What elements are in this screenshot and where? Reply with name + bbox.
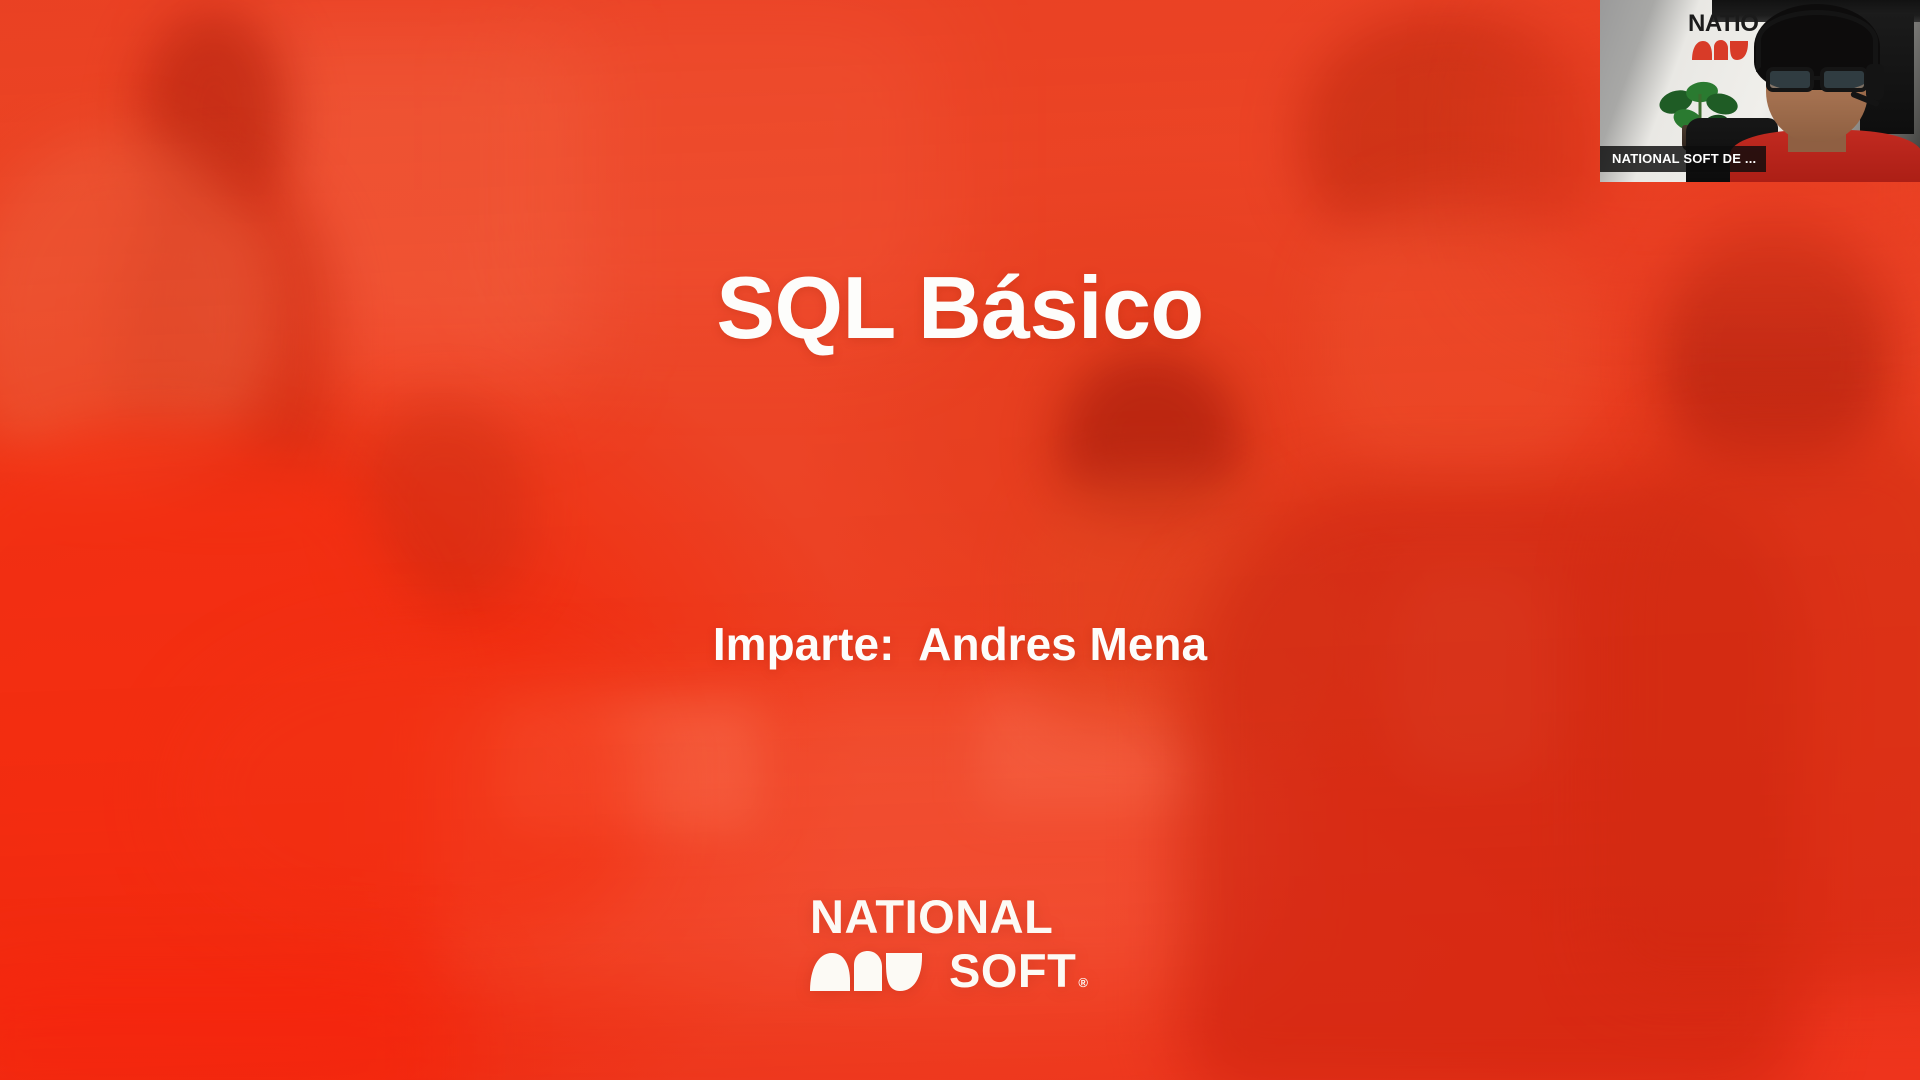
presenter-video-tile[interactable]: NATIO	[1600, 0, 1920, 182]
headset-band-icon	[1756, 10, 1878, 72]
presentation-screen: SQL Básico Imparte: Andres Mena NATIONAL…	[0, 0, 1920, 1080]
video-participant-name-label: NATIONAL SOFT DE ...	[1600, 146, 1766, 172]
headset-earcup-icon	[1866, 64, 1884, 100]
